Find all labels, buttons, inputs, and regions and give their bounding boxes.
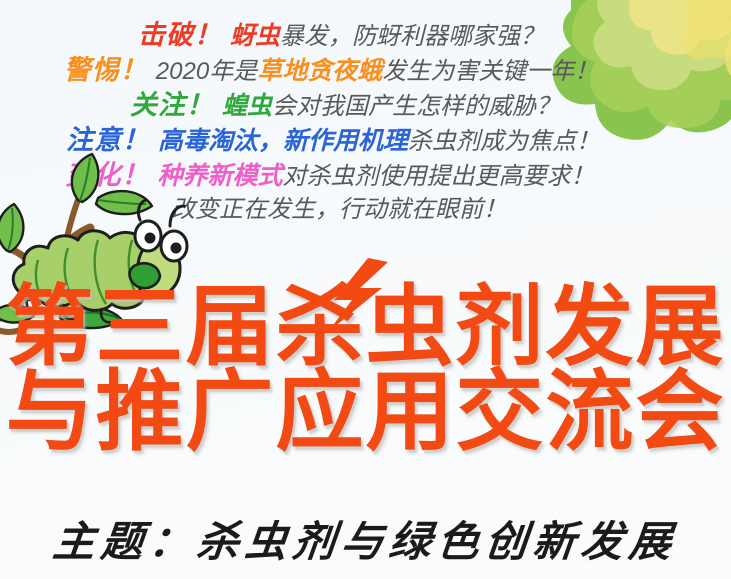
- headline-item: 变化！种养新模式对杀虫剂使用提出更高要求！: [0, 162, 660, 189]
- headline-body: 发生为害关键一年！: [382, 58, 598, 85]
- headline-body: 改变正在发生，行动就在眼前！: [171, 196, 507, 223]
- headline-body: 会对我国产生怎样的威胁？: [272, 93, 560, 120]
- headline-list: 击破！蚜虫暴发，防蚜利器哪家强？ 警惕！2020年是草地贪夜蛾发生为害关键一年！…: [0, 22, 660, 230]
- headline-lead: 警惕！: [64, 55, 148, 85]
- headline-item: 警惕！2020年是草地贪夜蛾发生为害关键一年！: [2, 57, 660, 84]
- subtitle-text: 主题：杀虫剂与绿色创新发展: [0, 508, 731, 569]
- headline-item: 关注！蝗虫会对我国产生怎样的威胁？: [30, 92, 660, 119]
- headline-body: 暴发，防蚜利器哪家强？: [280, 23, 544, 50]
- main-title-line-2: 与推广应用交流会: [0, 369, 731, 454]
- headline-emphasis: 种养新模式: [157, 162, 282, 190]
- headline-body: 杀虫剂成为焦点！: [408, 128, 600, 155]
- headline-emphasis: 蝗虫: [222, 92, 272, 120]
- headline-lead: 注意！: [66, 125, 150, 155]
- headline-emphasis: 高毒淘汰，新作用机理: [158, 127, 408, 155]
- lightning-bolt-icon: [318, 256, 392, 334]
- headline-emphasis: 蚜虫: [230, 22, 280, 50]
- headline-lead: 击破！: [138, 20, 222, 50]
- main-title: 第三届杀虫剂发展 与推广应用交流会: [0, 284, 731, 455]
- main-title-text-2: 与推广应用交流会: [5, 360, 725, 463]
- main-title-line-1: 第三届杀虫剂发展: [0, 284, 731, 369]
- headline-emphasis: 草地贪夜蛾: [257, 57, 382, 85]
- poster-canvas: 击破！蚜虫暴发，防蚜利器哪家强？ 警惕！2020年是草地贪夜蛾发生为害关键一年！…: [0, 0, 731, 579]
- headline-prefix: 2020年是: [156, 58, 257, 85]
- headline-lead: 关注！: [130, 90, 214, 120]
- headline-item: 改变正在发生，行动就在眼前！: [18, 197, 660, 222]
- headline-item: 注意！高毒淘汰，新作用机理杀虫剂成为焦点！: [6, 127, 660, 154]
- headline-item: 击破！蚜虫暴发，防蚜利器哪家强？: [22, 22, 660, 49]
- headline-body: 对杀虫剂使用提出更高要求！: [283, 163, 595, 190]
- headline-lead: 变化！: [65, 160, 149, 190]
